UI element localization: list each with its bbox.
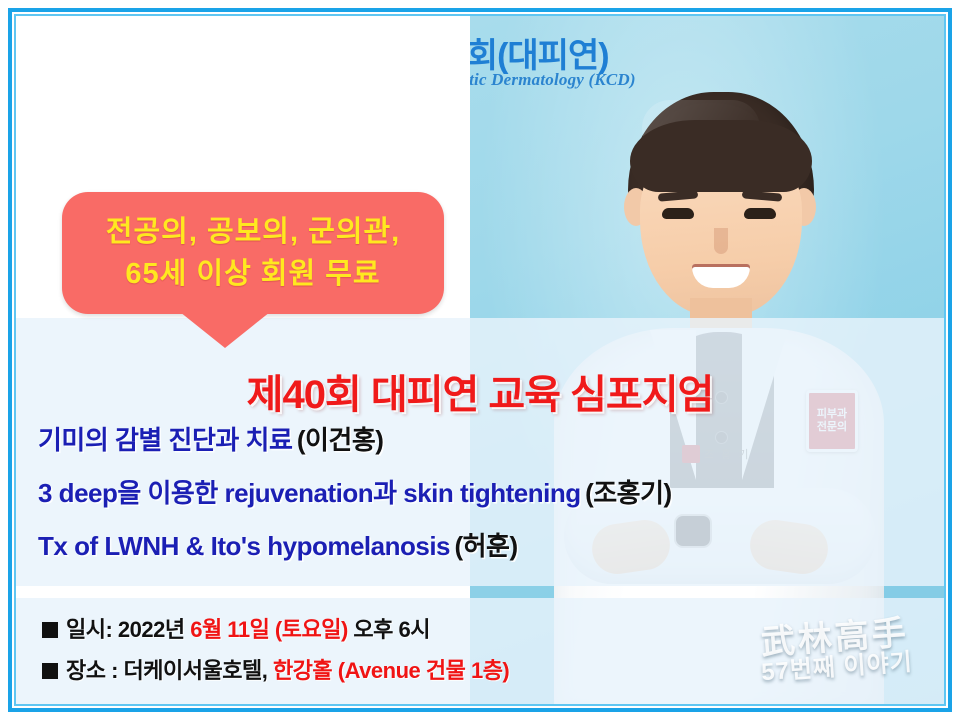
doctor-eye-left (662, 208, 694, 219)
datetime-label: 일시: 2022년 (66, 617, 190, 642)
lecture-list: 기미의 감별 진단과 치료 (이건홍) 3 deep을 이용한 rejuvena… (38, 420, 938, 579)
doctor-eye-right (744, 208, 776, 219)
bullet-square-icon (42, 663, 58, 679)
venue-highlight: 한강홀 (Avenue 건물 1층) (273, 658, 509, 683)
callout-line-1: 전공의, 공보의, 군의관, (106, 212, 400, 252)
bullet-square-icon (42, 622, 58, 638)
callout-tail (180, 312, 270, 348)
lecture-topic-1: 기미의 감별 진단과 치료 (38, 425, 292, 455)
free-admission-callout: 전공의, 공보의, 군의관, 65세 이상 회원 무료 (62, 192, 444, 314)
poster-canvas: 조 홍 기 대한피부과의사회 피부과 전문의 (0, 0, 960, 720)
header-white-band (16, 16, 470, 102)
datetime-highlight: 6월 11일 (토요일) (190, 617, 348, 642)
lecture-speaker-3: (허훈) (454, 531, 517, 561)
doctor-fringe (630, 120, 812, 192)
datetime-tail: 오후 6시 (348, 617, 430, 642)
callout-line-2: 65세 이상 회원 무료 (125, 254, 380, 294)
lecture-topic-2: 3 deep을 이용한 rejuvenation과 skin tightenin… (38, 478, 581, 508)
lecture-item-1: 기미의 감별 진단과 치료 (이건홍) (38, 420, 938, 457)
lecture-topic-3: Tx of LWNH & Ito's hypomelanosis (38, 531, 450, 561)
doctor-nose (714, 228, 728, 254)
venue-label: 장소 : 더케이서울호텔, (66, 658, 273, 683)
lecture-speaker-2: (조홍기) (585, 478, 672, 508)
lecture-speaker-1: (이건홍) (297, 425, 384, 455)
symposium-title: 제40회 대피연 교육 심포지엄 (16, 362, 944, 420)
lecture-item-2: 3 deep을 이용한 rejuvenation과 skin tightenin… (38, 473, 938, 510)
event-datetime: 일시: 2022년 6월 11일 (토요일) 오후 6시 (42, 612, 922, 644)
lecture-item-3: Tx of LWNH & Ito's hypomelanosis (허훈) (38, 526, 938, 563)
event-details: 일시: 2022년 6월 11일 (토요일) 오후 6시 장소 : 더케이서울호… (42, 612, 922, 694)
poster-content: 조 홍 기 대한피부과의사회 피부과 전문의 (16, 16, 944, 704)
event-venue: 장소 : 더케이서울호텔, 한강홀 (Avenue 건물 1층) (42, 653, 922, 685)
